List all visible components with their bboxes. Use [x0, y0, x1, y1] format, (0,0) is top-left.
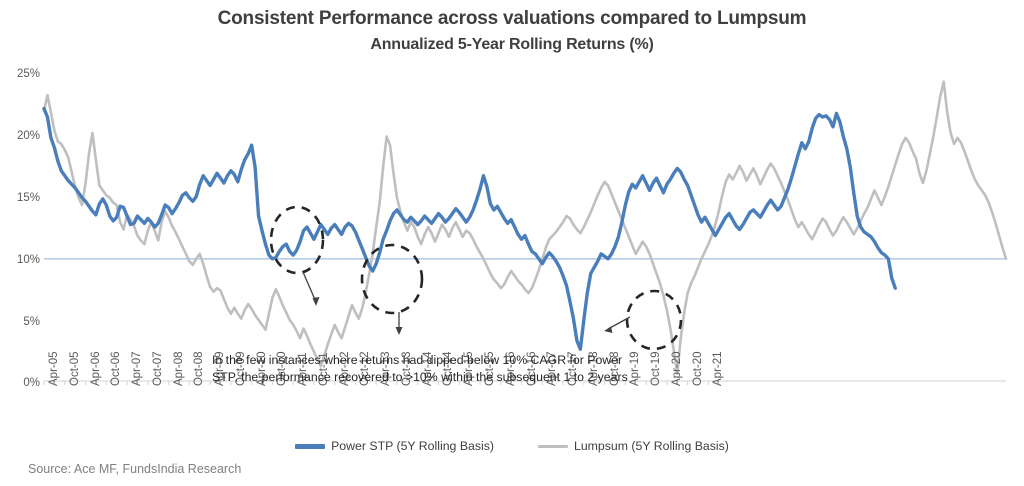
legend-label-power-stp: Power STP (5Y Rolling Basis) — [331, 439, 494, 453]
legend-swatch-power-stp-icon — [295, 444, 325, 449]
chart-legend: Power STP (5Y Rolling Basis) Lumpsum (5Y… — [0, 439, 1024, 453]
series-line-power-stp — [44, 108, 895, 349]
legend-item-lumpsum[interactable]: Lumpsum (5Y Rolling Basis) — [538, 439, 729, 453]
legend-item-power-stp[interactable]: Power STP (5Y Rolling Basis) — [295, 439, 494, 453]
x-axis-tick-apr-08: Apr-08 — [173, 351, 185, 386]
x-axis-tick-oct-20: Oct-20 — [692, 351, 704, 386]
plot-area — [0, 0, 1024, 486]
x-axis-tick-apr-06: Apr-06 — [90, 351, 102, 386]
x-axis-tick-oct-05: Oct-05 — [69, 351, 81, 386]
recovery-annotation: In the few instances where returns had d… — [212, 352, 682, 385]
x-axis-tick-apr-05: Apr-05 — [48, 351, 60, 386]
recovery-annotation-line2: STP, the performance recovered to >10% w… — [212, 369, 682, 386]
x-axis-tick-oct-06: Oct-06 — [110, 351, 122, 386]
x-axis-tick-apr-21: Apr-21 — [712, 351, 724, 386]
legend-label-lumpsum: Lumpsum (5Y Rolling Basis) — [574, 439, 729, 453]
x-axis-tick-oct-08: Oct-08 — [193, 351, 205, 386]
dip-highlight-2009 — [271, 207, 323, 306]
recovery-annotation-line1: In the few instances where returns had d… — [212, 352, 682, 369]
chart-container: Consistent Performance across valuations… — [0, 0, 1024, 486]
legend-swatch-lumpsum-icon — [538, 445, 568, 448]
source-note: Source: Ace MF, FundsIndia Research — [28, 462, 241, 476]
x-axis-tick-apr-07: Apr-07 — [131, 351, 143, 386]
x-axis-tick-oct-07: Oct-07 — [152, 351, 164, 386]
